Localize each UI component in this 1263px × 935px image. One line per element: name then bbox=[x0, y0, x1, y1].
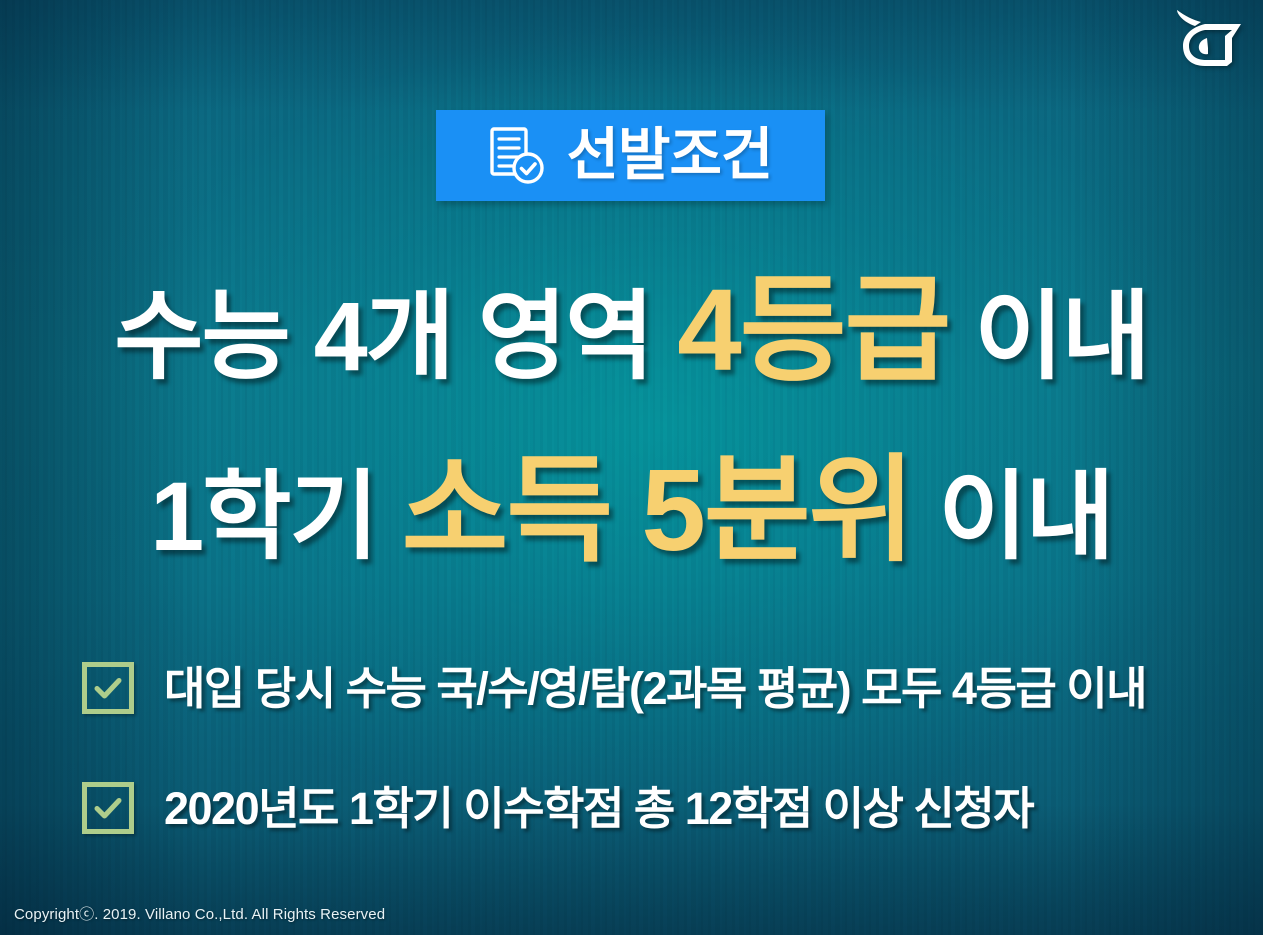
section-badge-label: 선발조건 bbox=[567, 127, 773, 184]
document-check-icon bbox=[489, 127, 545, 185]
slide-canvas: 선발조건 수능 4개 영역 4등급 이내 1학기 소득 5분위 이내 대입 당시… bbox=[0, 0, 1263, 935]
villano-bird-logo bbox=[1175, 8, 1247, 74]
list-item-label: 대입 당시 수능 국/수/영/탐(2과목 평균) 모두 4등급 이내 bbox=[164, 666, 1146, 711]
checkbox-checked-icon bbox=[82, 782, 134, 834]
headline-1-part-3: 이내 bbox=[949, 282, 1148, 391]
copyright-footer: Copyrightⓒ. 2019. Villano Co.,Ltd. All R… bbox=[14, 903, 385, 924]
headline-secondary: 1학기 소득 5분위 이내 bbox=[0, 452, 1263, 568]
list-item: 대입 당시 수능 국/수/영/탐(2과목 평균) 모두 4등급 이내 bbox=[82, 662, 1146, 714]
section-badge: 선발조건 bbox=[436, 110, 825, 201]
headline-2-part-3: 이내 bbox=[913, 462, 1112, 571]
headline-primary: 수능 4개 영역 4등급 이내 bbox=[0, 272, 1263, 388]
list-item: 2020년도 1학기 이수학점 총 12학점 이상 신청자 bbox=[82, 782, 1033, 834]
list-item-label: 2020년도 1학기 이수학점 총 12학점 이상 신청자 bbox=[164, 786, 1033, 831]
headline-1-highlight: 4등급 bbox=[677, 265, 949, 395]
headline-2-highlight: 소득 5분위 bbox=[402, 445, 914, 575]
headline-1-part-1: 수능 4개 영역 bbox=[114, 282, 677, 391]
checkbox-checked-icon bbox=[82, 662, 134, 714]
headline-2-part-1: 1학기 bbox=[150, 462, 401, 571]
